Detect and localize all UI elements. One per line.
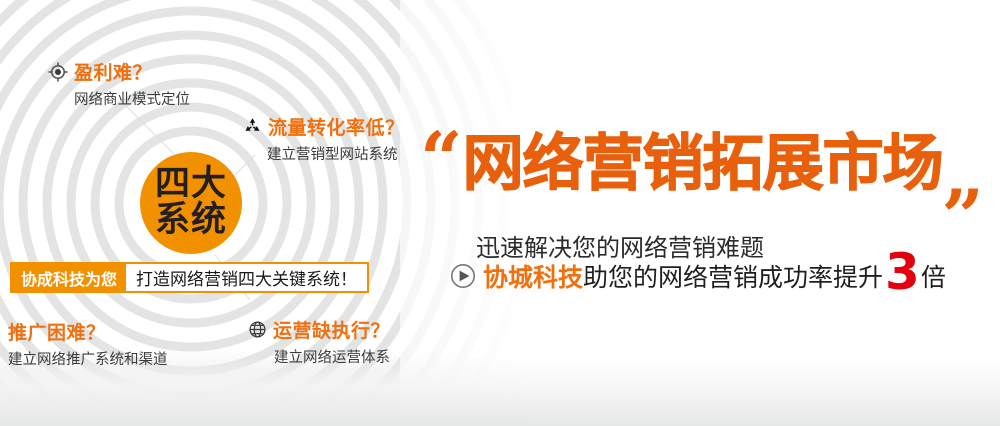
play-circle-icon [450, 263, 476, 289]
node-operation[interactable]: 运营缺执行？ 建立网络运营体系 [248, 316, 390, 367]
node-promotion[interactable]: 推广困难？ 建立网络推广系统和渠道 [8, 318, 168, 369]
node-profit[interactable]: 盈利难？ 网络商业模式定位 [48, 58, 190, 109]
tagline-ribbon: 协成科技为您 打造网络营销四大关键系统！ [10, 262, 369, 293]
node-promotion-title: 推广困难？ [8, 318, 106, 345]
marketing-banner: 四大 系统 盈利难？ 网络商业模式定位 [0, 0, 1000, 426]
core-circle: 四大 系统 [140, 152, 242, 254]
node-conversion[interactable]: 流量转化率低？ 建立营销型网站系统 [243, 113, 405, 164]
ribbon-message-label: 打造网络营销四大关键系统！ [126, 264, 367, 291]
crosshair-target-icon [48, 62, 68, 82]
promo-subline-2-text: 助您的网络营销成功率提升 [583, 258, 883, 294]
node-promotion-head: 推广困难？ [8, 318, 168, 345]
quote-open-icon: “ [420, 132, 463, 190]
core-circle-line1: 四大 [155, 167, 227, 203]
ribbon-brand-label: 协成科技为您 [12, 264, 126, 291]
node-conversion-desc: 建立营销型网站系统 [267, 143, 405, 164]
promo-brand-name: 协城科技 [483, 258, 583, 294]
node-operation-title: 运营缺执行？ [273, 316, 390, 343]
node-operation-desc: 建立网络运营体系 [274, 346, 390, 367]
promo-headline-block: “ 网络营销拓展市场 „ [420, 132, 985, 219]
promo-subline-2: 协城科技 助您的网络营销成功率提升 3 倍 [450, 258, 946, 294]
recycle-icon [243, 117, 262, 136]
node-profit-head: 盈利难？ [48, 58, 190, 85]
node-promotion-desc: 建立网络推广系统和渠道 [8, 348, 168, 369]
core-circle-line2: 系统 [155, 203, 227, 239]
node-profit-title: 盈利难？ [74, 58, 152, 85]
globe-icon [248, 320, 267, 339]
quote-close-icon: „ [943, 132, 986, 219]
node-operation-head: 运营缺执行？ [248, 316, 390, 343]
node-conversion-head: 流量转化率低？ [243, 113, 405, 140]
promo-multiplier-number: 3 [885, 254, 920, 290]
node-profit-desc: 网络商业模式定位 [74, 88, 190, 109]
promo-headline: 网络营销拓展市场 [463, 132, 943, 196]
node-conversion-title: 流量转化率低？ [268, 113, 405, 140]
promo-multiplier-unit: 倍 [921, 258, 946, 294]
